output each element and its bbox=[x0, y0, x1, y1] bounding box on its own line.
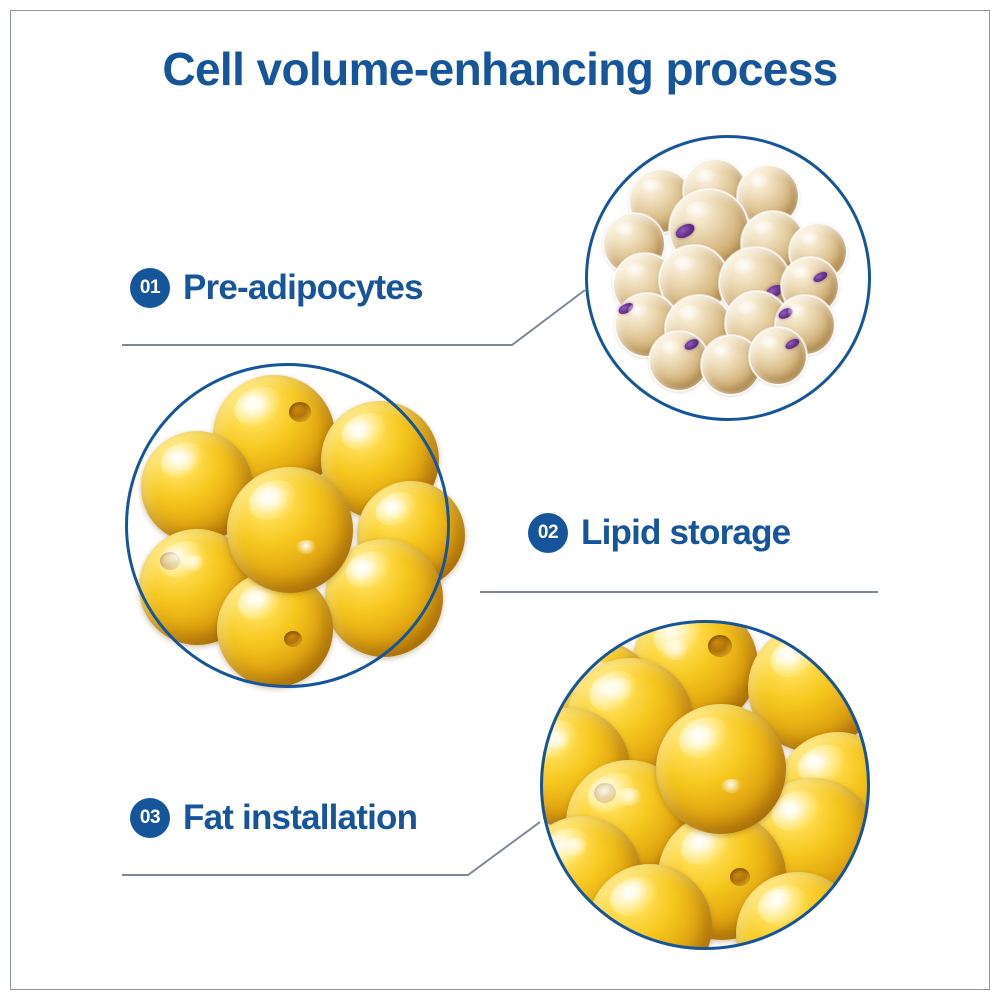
step-badge-03: 03 bbox=[130, 798, 170, 838]
infographic-poster: Cell volume-enhancing process 01 Pre-adi… bbox=[0, 0, 1000, 1000]
step-title-01: Pre-adipocytes bbox=[183, 268, 423, 308]
fat-cell bbox=[749, 327, 807, 385]
fat-cell bbox=[227, 467, 353, 593]
pre-adipocyte-cells bbox=[585, 135, 871, 421]
fat-cell bbox=[656, 704, 786, 834]
fat-installation-cluster bbox=[540, 620, 870, 950]
step-title-03: Fat installation bbox=[183, 798, 417, 838]
fat-installation-cells bbox=[540, 620, 870, 950]
lipid-storage-cluster bbox=[125, 363, 450, 688]
step-label-02: 02 Lipid storage bbox=[528, 513, 790, 553]
lipid-storage-cells bbox=[125, 363, 450, 688]
step-label-03: 03 Fat installation bbox=[130, 798, 417, 838]
page-title: Cell volume-enhancing process bbox=[0, 42, 1000, 96]
step-label-01: 01 Pre-adipocytes bbox=[130, 268, 423, 308]
step-badge-02: 02 bbox=[528, 513, 568, 553]
step-badge-01: 01 bbox=[130, 268, 170, 308]
step-title-02: Lipid storage bbox=[581, 513, 790, 553]
pre-adipocyte-cluster bbox=[585, 135, 871, 421]
